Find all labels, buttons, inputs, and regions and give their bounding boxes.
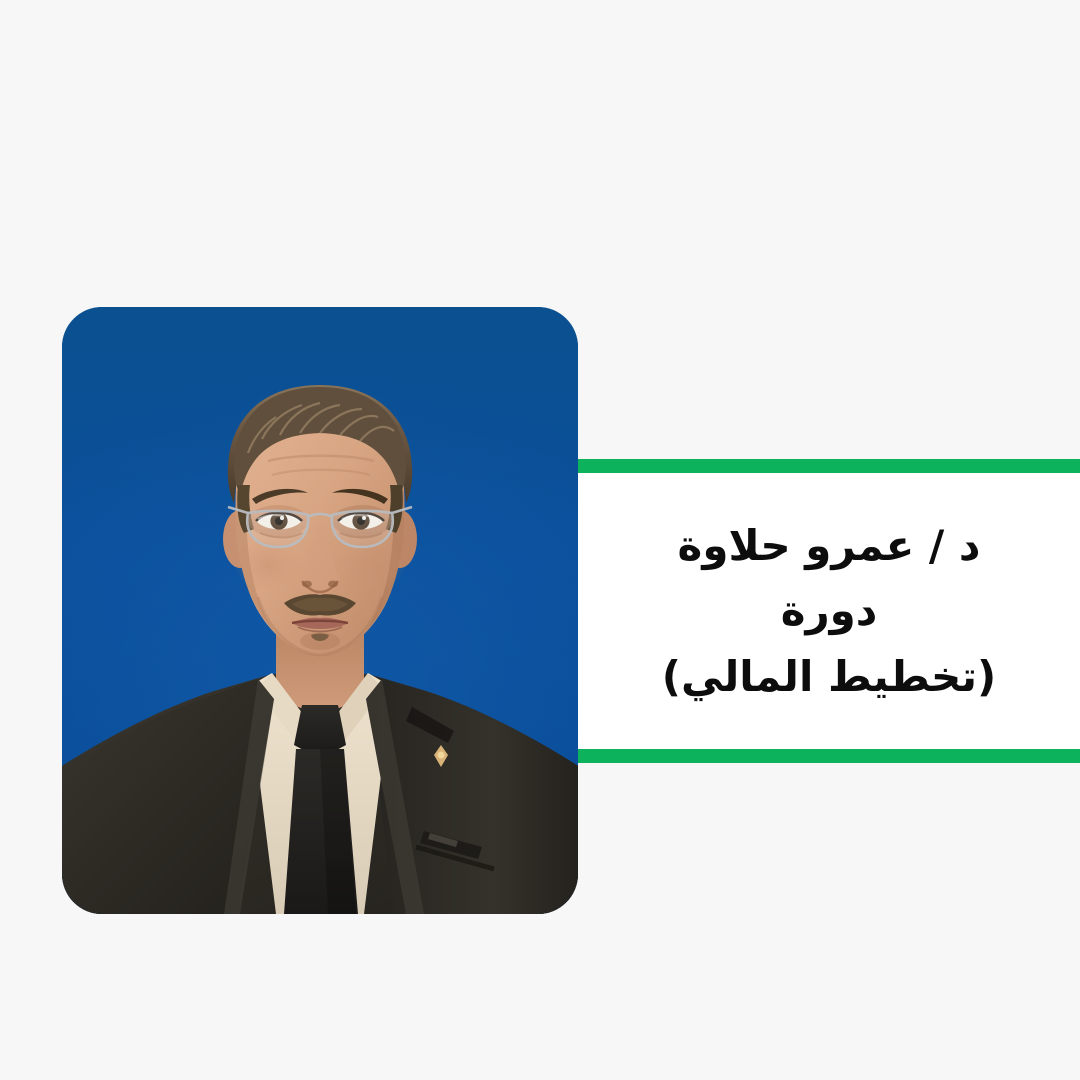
- event-topic-line: (تخطيط المالي): [662, 647, 996, 707]
- speaker-portrait-image: [62, 307, 578, 914]
- panel-bottom-rule: [578, 749, 1080, 763]
- event-kind-line: دورة: [781, 581, 878, 641]
- speaker-name-line: د / عمرو حلاوة: [678, 516, 981, 576]
- speaker-photo-card: [62, 307, 578, 914]
- info-text-block: د / عمرو حلاوة دورة (تخطيط المالي): [578, 473, 1080, 749]
- poster-canvas: د / عمرو حلاوة دورة (تخطيط المالي): [0, 0, 1080, 1080]
- panel-top-rule: [578, 459, 1080, 473]
